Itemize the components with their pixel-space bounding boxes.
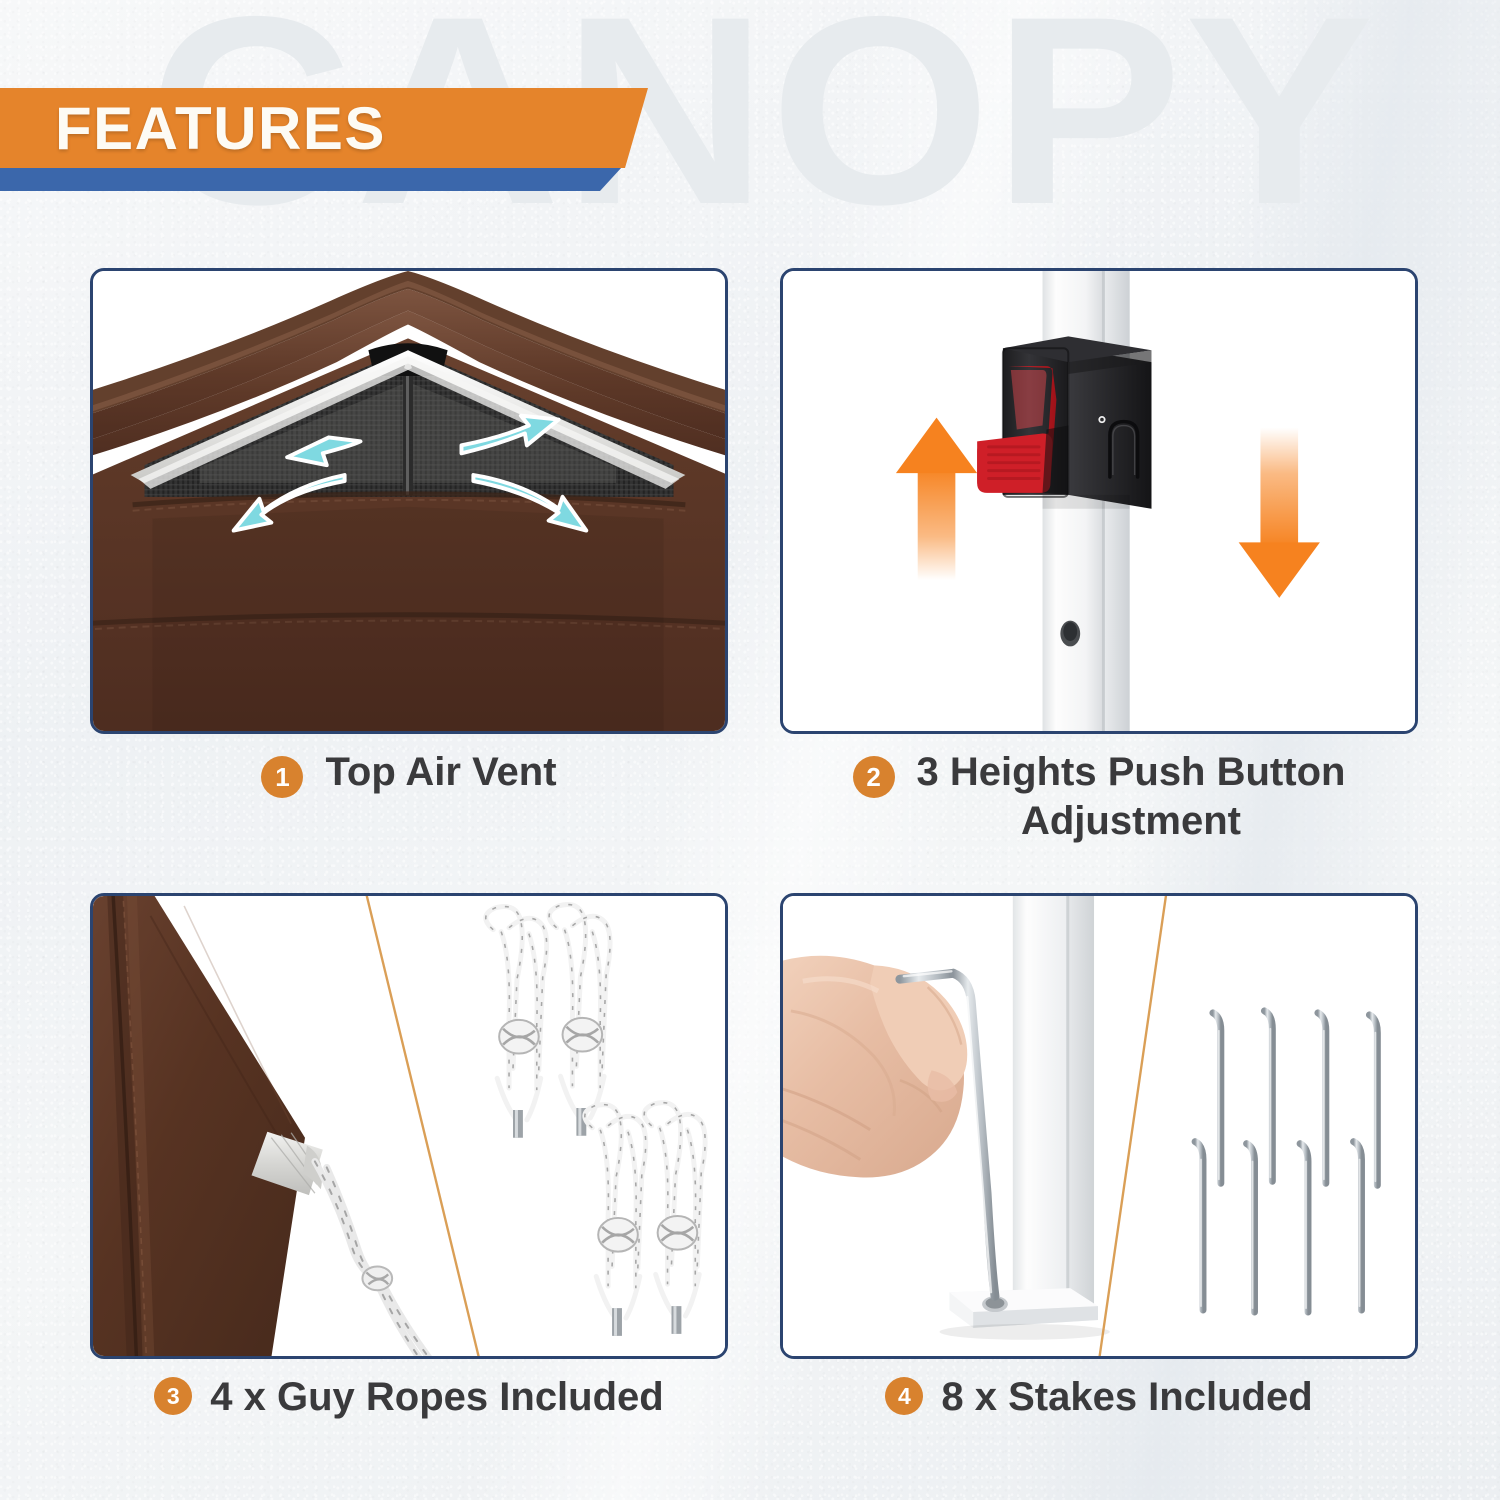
feature-caption-1: 1 Top Air Vent	[90, 748, 728, 798]
feature-label-4: 8 x Stakes Included	[941, 1373, 1312, 1422]
infographic-page: CANOPY FEATURES	[0, 0, 1500, 1500]
guy-ropes-illustration	[93, 896, 725, 1358]
feature-badge-3: 3	[154, 1377, 192, 1415]
canopy-top-air-vent-illustration	[93, 271, 725, 733]
feature-label-3: 4 x Guy Ropes Included	[210, 1373, 663, 1422]
page-title: FEATURES	[55, 94, 386, 163]
feature-badge-2: 2	[853, 756, 895, 798]
feature-label-1: Top Air Vent	[325, 748, 556, 797]
ground-stakes-illustration	[783, 896, 1415, 1358]
feature-label-2-line2: Adjustment	[917, 797, 1346, 846]
banner-underline-bar	[0, 167, 622, 191]
feature-panel-2	[780, 268, 1418, 734]
feature-panel-4	[780, 893, 1418, 1359]
feature-caption-2: 2 3 Heights Push Button Adjustment	[780, 748, 1418, 846]
feature-badge-4: 4	[885, 1377, 923, 1415]
feature-panel-1	[90, 268, 728, 734]
features-banner: FEATURES	[0, 88, 700, 192]
feature-caption-3: 3 4 x Guy Ropes Included	[90, 1373, 728, 1422]
banner-orange-shape: FEATURES	[0, 88, 648, 168]
feature-label-2-line1: 3 Heights Push Button	[917, 748, 1346, 797]
feature-caption-4: 4 8 x Stakes Included	[780, 1373, 1418, 1422]
feature-badge-1: 1	[261, 756, 303, 798]
feature-label-2: 3 Heights Push Button Adjustment	[917, 748, 1346, 846]
feature-panel-3	[90, 893, 728, 1359]
push-button-adjustment-illustration	[783, 271, 1415, 733]
